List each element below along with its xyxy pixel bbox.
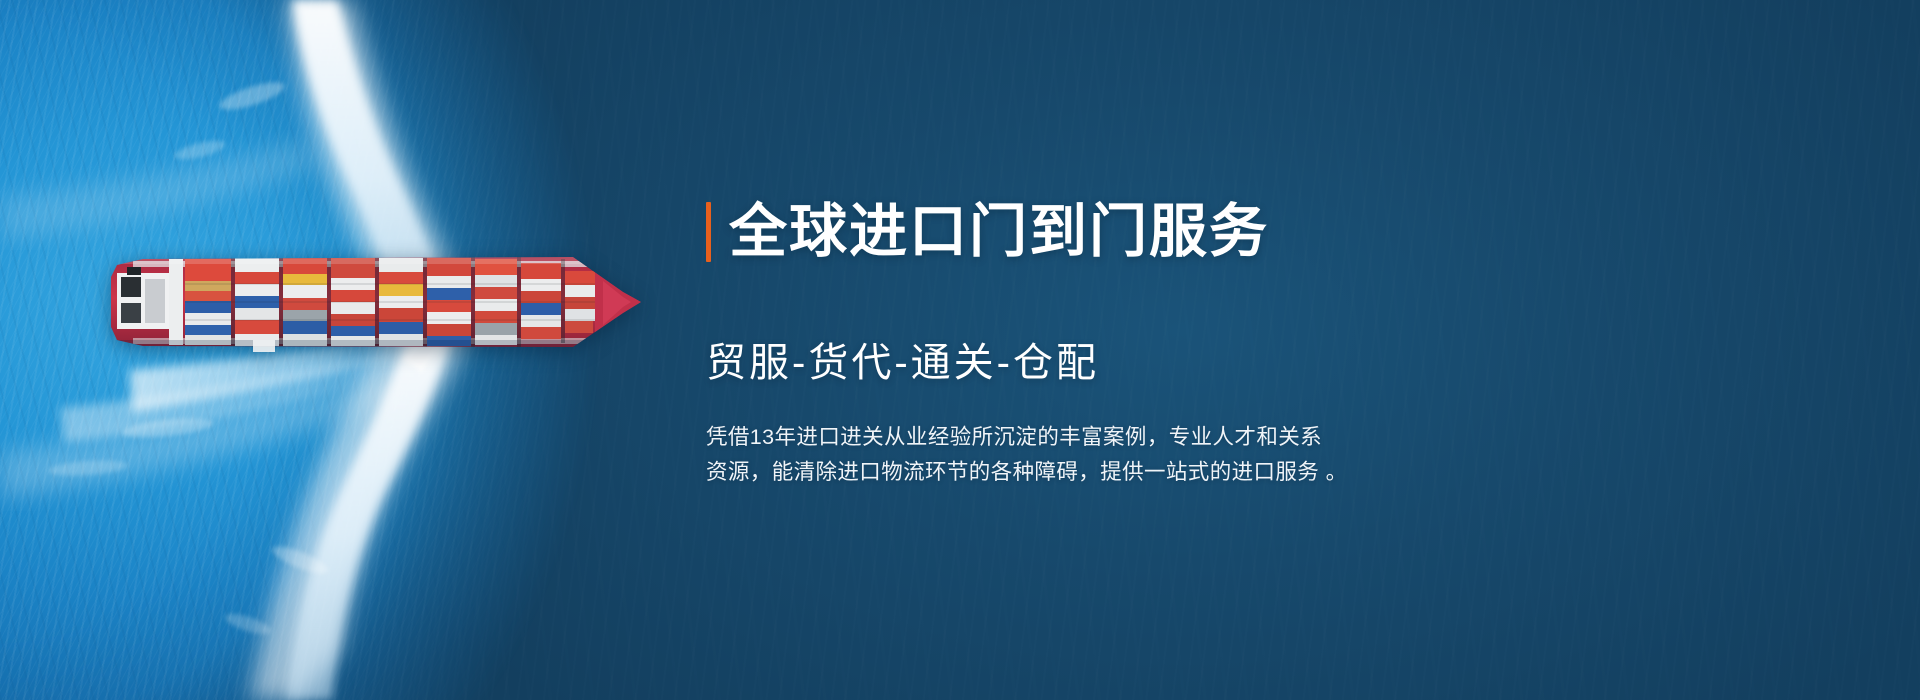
container-ship-image: [103, 247, 648, 357]
description-text: 凭借13年进口进关从业经验所沉淀的丰富案例，专业人才和关系 资源，能清除进口物流…: [706, 420, 1406, 490]
subtitle: 贸服-货代-通关-仓配: [706, 339, 1426, 387]
accent-bar-icon: [706, 202, 711, 262]
description-line-2: 资源，能清除进口物流环节的各种障碍，提供一站式的进口服务 。: [706, 455, 1406, 490]
hero-copy-block: 全球进口门到门服务 贸服-货代-通关-仓配 凭借13年进口进关从业经验所沉淀的丰…: [706, 163, 1426, 490]
hero-banner: 全球进口门到门服务 贸服-货代-通关-仓配 凭借13年进口进关从业经验所沉淀的丰…: [0, 0, 1920, 700]
description-line-1: 凭借13年进口进关从业经验所沉淀的丰富案例，专业人才和关系: [706, 420, 1406, 455]
page-title: 全球进口门到门服务: [729, 202, 1269, 262]
headline-row: 全球进口门到门服务: [706, 163, 1426, 301]
